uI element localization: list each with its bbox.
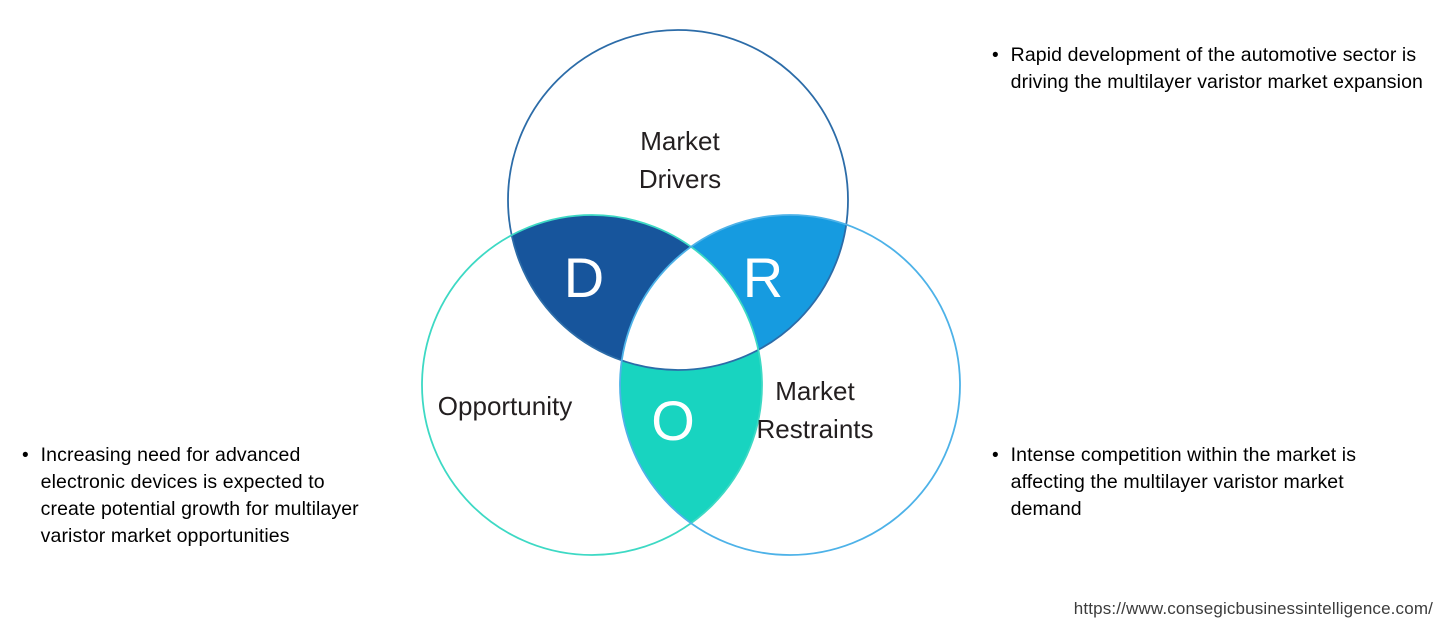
- venn-letter-r: R: [743, 246, 783, 309]
- venn-diagram: D R O Market Drivers Opportunity Market …: [360, 10, 980, 570]
- callout-market-driver-text: Rapid development of the automotive sect…: [1011, 42, 1432, 96]
- callout-market-driver: • Rapid development of the automotive se…: [992, 42, 1432, 96]
- bullet-icon: •: [22, 442, 29, 469]
- slide-canvas: D R O Market Drivers Opportunity Market …: [0, 0, 1453, 643]
- venn-letter-d: D: [564, 246, 604, 309]
- venn-label-restraints-line1: Market: [775, 376, 855, 406]
- callout-market-opportunity: • Increasing need for advanced electroni…: [22, 442, 382, 550]
- venn-label-drivers-line2: Drivers: [639, 164, 721, 194]
- venn-label-opportunity: Opportunity: [438, 391, 572, 421]
- venn-label-restraints-line2: Restraints: [756, 414, 873, 444]
- callout-market-restraint: • Intense competition within the market …: [992, 442, 1392, 523]
- callout-market-opportunity-text: Increasing need for advanced electronic …: [41, 442, 382, 550]
- bullet-icon: •: [992, 42, 999, 69]
- callout-market-restraint-text: Intense competition within the market is…: [1011, 442, 1392, 523]
- bullet-icon: •: [992, 442, 999, 469]
- source-url[interactable]: https://www.consegicbusinessintelligence…: [0, 598, 1433, 620]
- venn-letter-o: O: [651, 389, 695, 452]
- venn-label-drivers-line1: Market: [640, 126, 720, 156]
- venn-svg: D R O Market Drivers Opportunity Market …: [360, 10, 980, 570]
